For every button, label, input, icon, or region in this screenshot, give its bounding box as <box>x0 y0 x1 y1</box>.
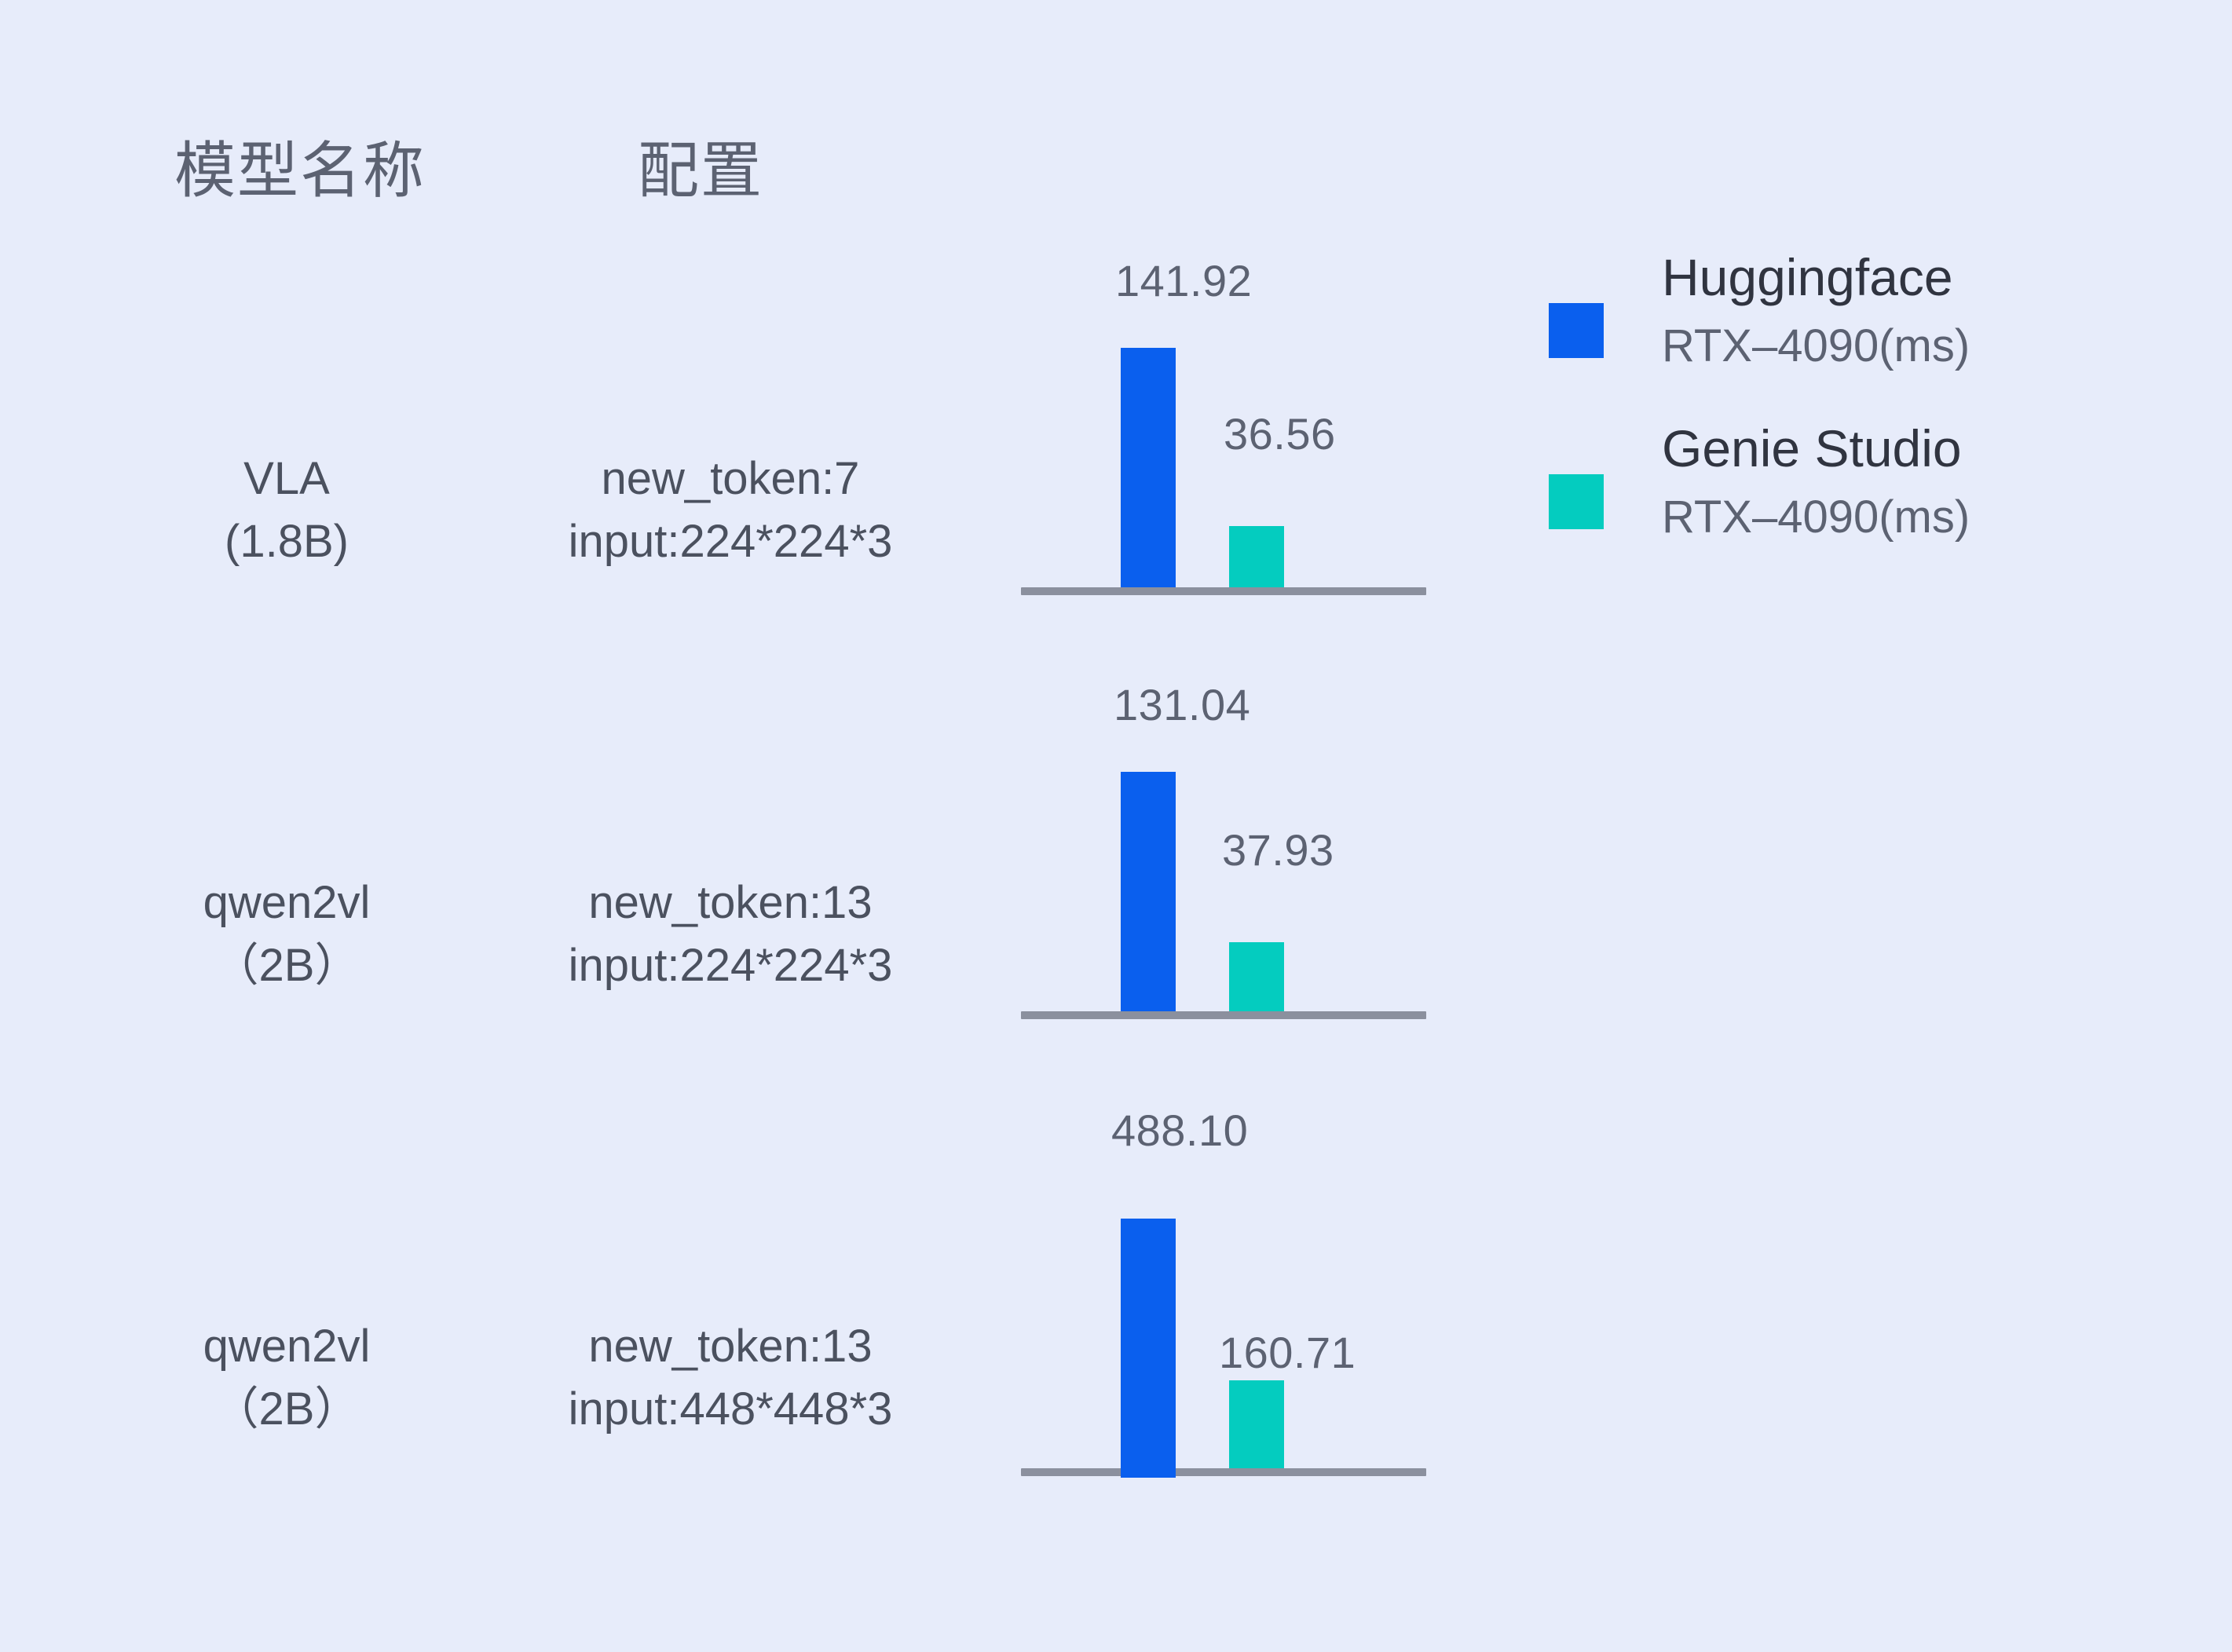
legend-title-huggingface: Huggingface <box>1662 251 2133 303</box>
bar-panel: 488.10 160.71 <box>1021 1170 1426 1484</box>
bar-panel: 131.04 37.93 <box>1021 746 1426 1019</box>
model-size-line: （2B） <box>165 1378 408 1441</box>
row-model-label: qwen2vl （2B） <box>165 1315 408 1441</box>
model-name-line: VLA <box>165 448 408 510</box>
chart-canvas: 模型名称 配置 VLA (1.8B) new_token:7 input:224… <box>0 0 2232 1652</box>
bar-genie-studio[interactable] <box>1229 526 1284 587</box>
row-config-label: new_token:13 input:224*224*3 <box>487 872 974 997</box>
model-name-line: qwen2vl <box>165 1315 408 1378</box>
row-config-label: new_token:7 input:224*224*3 <box>487 448 974 573</box>
column-header-config: 配置 <box>638 140 763 201</box>
panel-baseline <box>1021 587 1426 595</box>
config-input-line: input:224*224*3 <box>487 934 974 997</box>
bar-value-huggingface: 488.10 <box>1111 1109 1248 1153</box>
legend-subtitle-huggingface: RTX–4090(ms) <box>1662 323 2133 369</box>
bar-genie-studio[interactable] <box>1229 1380 1284 1468</box>
legend-title-genie-studio: Genie Studio <box>1662 422 2133 474</box>
row-model-label: qwen2vl （2B） <box>165 872 408 997</box>
legend-subtitle-genie-studio: RTX–4090(ms) <box>1662 495 2133 540</box>
bar-huggingface[interactable] <box>1121 772 1176 1011</box>
bar-genie-studio[interactable] <box>1229 942 1284 1011</box>
column-header-model-name: 模型名称 <box>174 140 426 201</box>
chart-row: qwen2vl （2B） new_token:13 input:224*224*… <box>0 746 2232 1060</box>
bar-value-genie-studio: 37.93 <box>1222 828 1334 872</box>
bar-panel: 141.92 36.56 <box>1021 322 1426 595</box>
bar-huggingface[interactable] <box>1121 348 1176 587</box>
huggingface-swatch-icon <box>1549 303 1604 358</box>
bar-value-genie-studio: 36.56 <box>1224 412 1336 456</box>
config-tokens-line: new_token:13 <box>487 872 974 934</box>
legend-item-huggingface[interactable]: Huggingface RTX–4090(ms) <box>1547 251 2144 432</box>
panel-baseline <box>1021 1468 1426 1476</box>
row-config-label: new_token:13 input:448*448*3 <box>487 1315 974 1441</box>
config-tokens-line: new_token:7 <box>487 448 974 510</box>
model-size-line: (1.8B) <box>165 510 408 573</box>
bar-huggingface[interactable] <box>1121 1219 1176 1478</box>
genie-studio-swatch-icon <box>1549 474 1604 529</box>
panel-baseline <box>1021 1011 1426 1019</box>
config-input-line-2: input:224*224*3 <box>487 510 974 573</box>
bar-value-huggingface: 141.92 <box>1115 259 1252 303</box>
bar-value-huggingface: 131.04 <box>1114 683 1250 727</box>
chart-row: qwen2vl （2B） new_token:13 input:448*448*… <box>0 1170 2232 1500</box>
model-size-line: （2B） <box>165 934 408 997</box>
model-name-line: qwen2vl <box>165 872 408 934</box>
legend-item-genie-studio[interactable]: Genie Studio RTX–4090(ms) <box>1547 432 2144 612</box>
config-tokens-line: new_token:13 <box>487 1315 974 1378</box>
bar-value-genie-studio: 160.71 <box>1219 1331 1356 1375</box>
row-model-label: VLA (1.8B) <box>165 448 408 573</box>
config-input-line: input:448*448*3 <box>487 1378 974 1441</box>
chart-legend: Huggingface RTX–4090(ms) Genie Studio RT… <box>1547 251 2144 612</box>
